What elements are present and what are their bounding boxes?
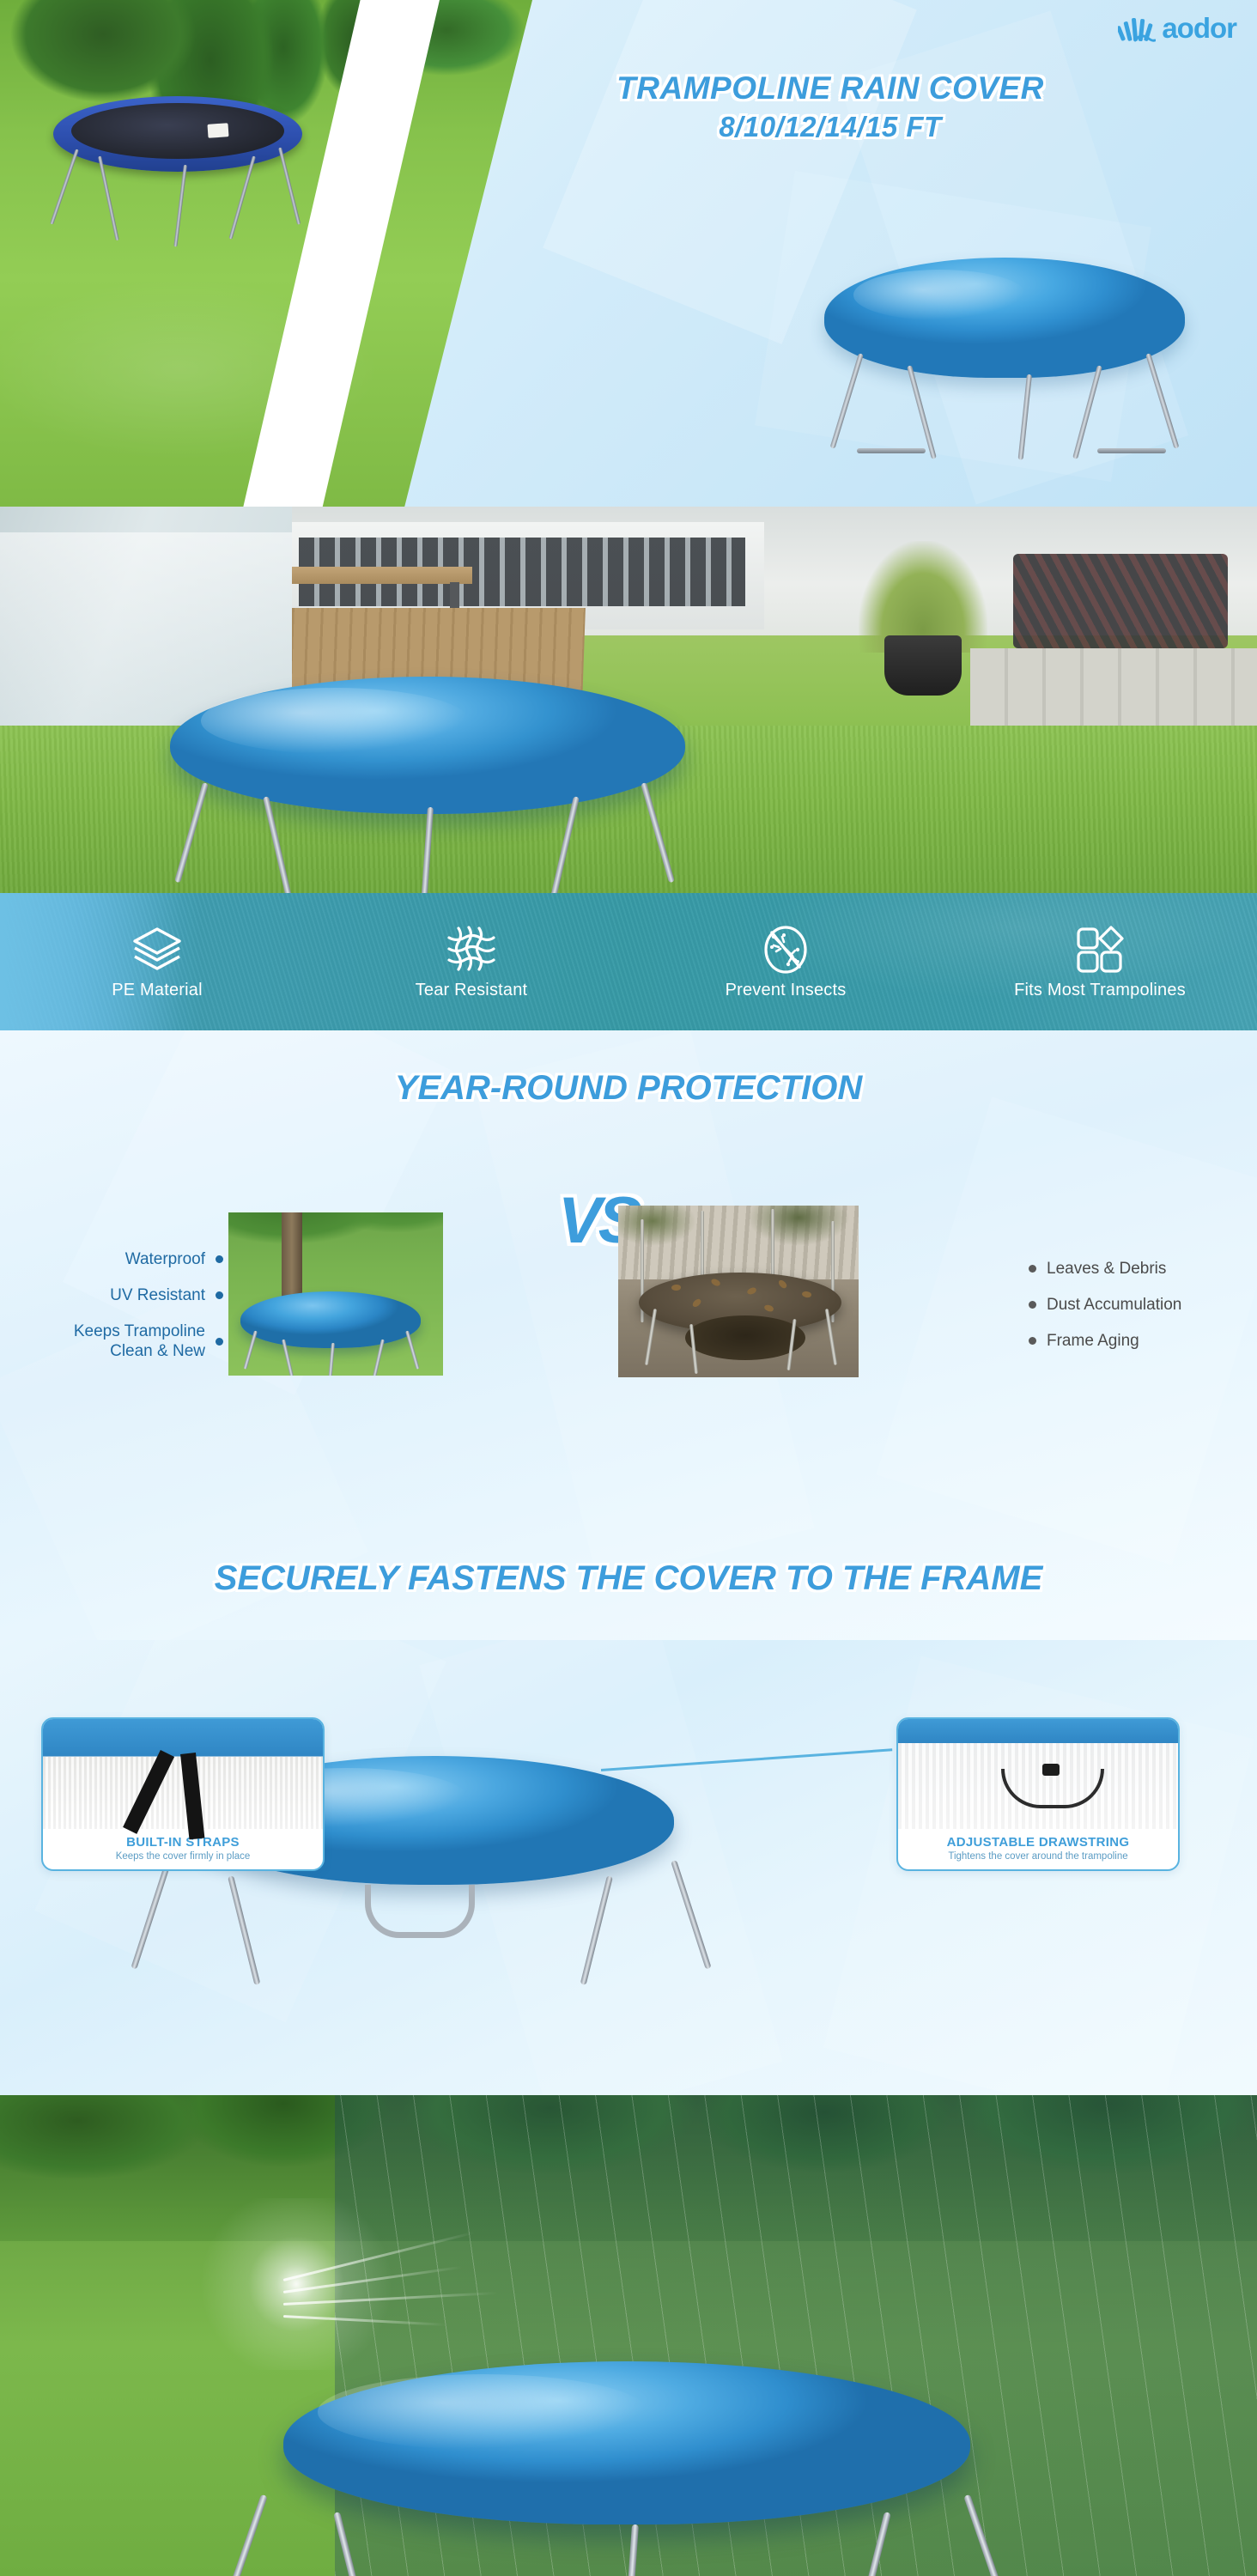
feature-label: Tear Resistant — [416, 981, 528, 999]
covered-trampoline-photo — [228, 1212, 443, 1376]
shapes-fit-icon — [1073, 925, 1126, 975]
layers-icon — [131, 925, 184, 975]
hero-title-line1: TRAMPOLINE RAIN COVER — [404, 69, 1257, 108]
con-label: Frame Aging — [1047, 1331, 1139, 1351]
feature-fits-most-trampolines: Fits Most Trampolines — [943, 893, 1257, 1030]
bullet-dot-icon — [1029, 1301, 1036, 1309]
hero-section: aodor TRAMPOLINE RAIN COVER 8/10/12/14/1… — [0, 0, 1257, 507]
con-label: Dust Accumulation — [1047, 1295, 1181, 1315]
list-item: UV Resistant — [0, 1285, 223, 1305]
brand-logo: aodor — [1118, 12, 1236, 45]
list-item: Keeps Trampoline Clean & New — [0, 1321, 223, 1361]
patio-trampoline-cover — [170, 677, 685, 893]
bullet-dot-icon — [216, 1338, 223, 1346]
feature-band: PE Material Tear Resi — [0, 893, 1257, 1030]
pro-label: UV Resistant — [110, 1285, 205, 1305]
callout-subtext: Tightens the cover around the trampoline — [903, 1851, 1173, 1862]
sun-flare — [185, 2198, 408, 2370]
brand-name: aodor — [1162, 12, 1236, 45]
list-item: Leaves & Debris — [1029, 1259, 1257, 1279]
hero-title-line2: 8/10/12/14/15 FT — [404, 108, 1257, 146]
pro-label: Waterproof — [125, 1249, 205, 1269]
no-insects-icon — [759, 925, 812, 975]
feature-tear-resistant: Tear Resistant — [314, 893, 628, 1030]
hero-headline: TRAMPOLINE RAIN COVER 8/10/12/14/15 FT — [404, 69, 1257, 146]
callout-heading: BUILT-IN STRAPS — [48, 1835, 318, 1850]
uncovered-trampoline-photo — [618, 1206, 859, 1377]
year-round-title: YEAR-ROUND PROTECTION — [0, 1069, 1257, 1108]
cons-list: Leaves & Debris Dust Accumulation Frame … — [1029, 1259, 1257, 1367]
feature-prevent-insects: Prevent Insects — [628, 893, 943, 1030]
hero-product-image — [824, 258, 1185, 455]
bullet-dot-icon — [216, 1255, 223, 1263]
callout-heading: ADJUSTABLE DRAWSTRING — [903, 1835, 1173, 1850]
bottom-lifestyle-photo — [0, 2095, 1257, 2576]
list-item: Frame Aging — [1029, 1331, 1257, 1351]
list-item: Dust Accumulation — [1029, 1295, 1257, 1315]
pro-label: Keeps Trampoline Clean & New — [61, 1321, 205, 1361]
list-item: Waterproof — [0, 1249, 223, 1269]
product-infographic: aodor TRAMPOLINE RAIN COVER 8/10/12/14/1… — [0, 0, 1257, 2576]
hero-trampoline-image — [53, 96, 302, 242]
feature-label: PE Material — [112, 981, 203, 999]
woven-mesh-icon — [445, 925, 498, 975]
bottom-cover-image — [283, 2361, 970, 2576]
bullet-dot-icon — [1029, 1265, 1036, 1273]
patio-lifestyle-photo — [0, 507, 1257, 893]
strap-photo-icon — [43, 1719, 323, 1829]
sunburst-logo-icon — [1118, 14, 1156, 43]
drawstring-photo-icon — [898, 1719, 1178, 1829]
feature-label: Prevent Insects — [726, 981, 847, 999]
fastens-title: SECURELY FASTENS THE COVER TO THE FRAME — [0, 1559, 1257, 1598]
feature-pe-material: PE Material — [0, 893, 314, 1030]
feature-label: Fits Most Trampolines — [1014, 981, 1186, 999]
callout-adjustable-drawstring: ADJUSTABLE DRAWSTRING Tightens the cover… — [896, 1717, 1180, 1871]
callout-built-in-straps: BUILT-IN STRAPS Keeps the cover firmly i… — [41, 1717, 325, 1871]
con-label: Leaves & Debris — [1047, 1259, 1166, 1279]
bullet-dot-icon — [216, 1291, 223, 1299]
bullet-dot-icon — [1029, 1337, 1036, 1345]
callout-subtext: Keeps the cover firmly in place — [48, 1851, 318, 1862]
pros-list: Waterproof UV Resistant Keeps Trampoline… — [0, 1249, 223, 1377]
